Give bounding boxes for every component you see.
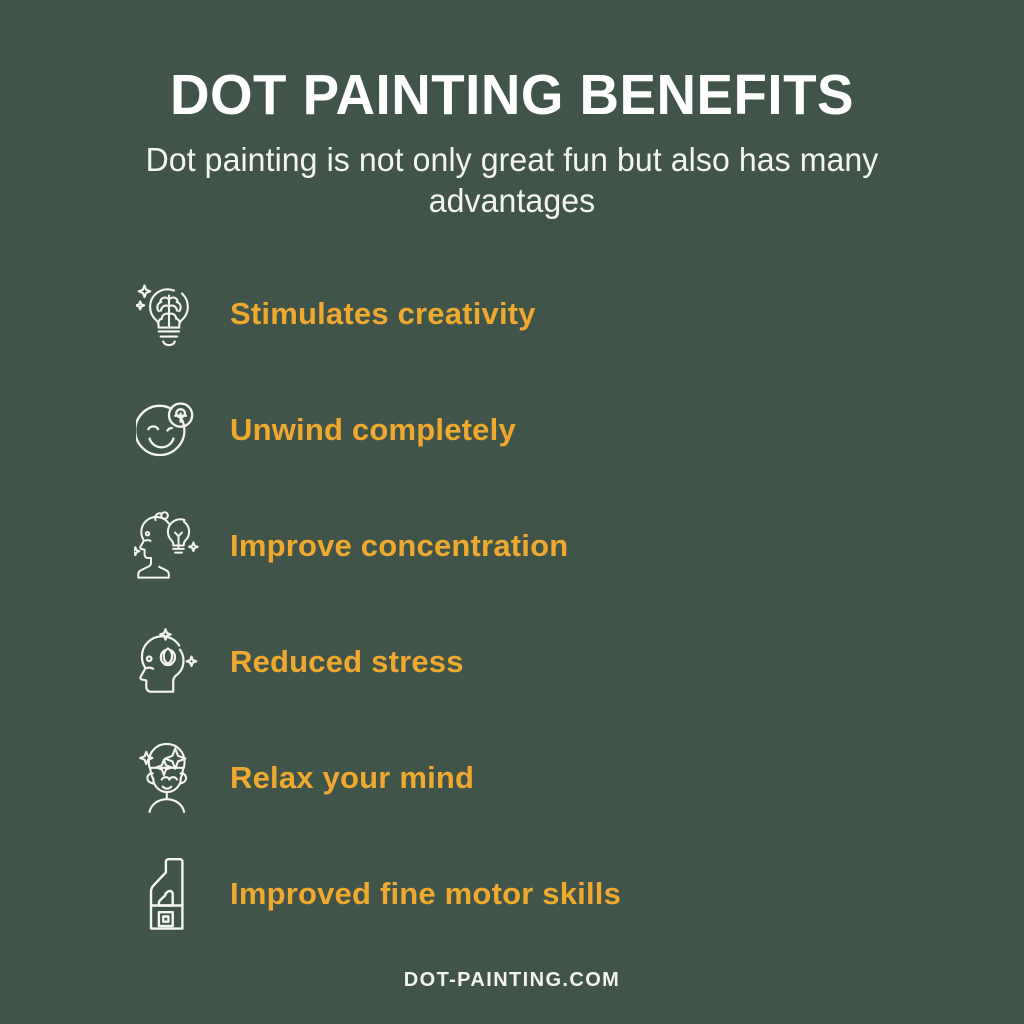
list-item: Improved fine motor skills [128,852,908,936]
benefits-list: Stimulates creativity Unwind completely [128,272,908,936]
list-item: Relax your mind [128,736,908,820]
page-title: DOT PAINTING BENEFITS [20,62,1003,128]
benefit-label: Improved fine motor skills [230,876,621,912]
list-item: Unwind completely [128,388,908,472]
head-lotus-sparkle-icon [128,622,206,702]
calm-woman-stars-icon [128,738,206,818]
benefit-label: Reduced stress [230,644,464,680]
benefit-label: Relax your mind [230,760,474,796]
list-item: Improve concentration [128,504,908,588]
list-item: Reduced stress [128,620,908,704]
list-item: Stimulates creativity [128,272,908,356]
footer: DOT-PAINTING.COM [0,969,1024,992]
benefit-label: Improve concentration [230,528,568,564]
lightbulb-brain-sparkle-icon [128,274,206,354]
header: DOT PAINTING BENEFITS Dot painting is no… [0,62,1024,221]
benefit-label: Unwind completely [230,412,516,448]
website-url: DOT-PAINTING.COM [404,969,620,991]
page-subtitle: Dot painting is not only great fun but a… [143,139,880,221]
relaxed-face-flower-icon [128,390,206,470]
poster-canvas: DOT PAINTING BENEFITS Dot painting is no… [0,0,1024,1024]
hand-pinch-dot-icon [128,854,206,934]
benefit-label: Stimulates creativity [230,296,536,332]
profile-head-lightbulb-icon [128,506,206,586]
